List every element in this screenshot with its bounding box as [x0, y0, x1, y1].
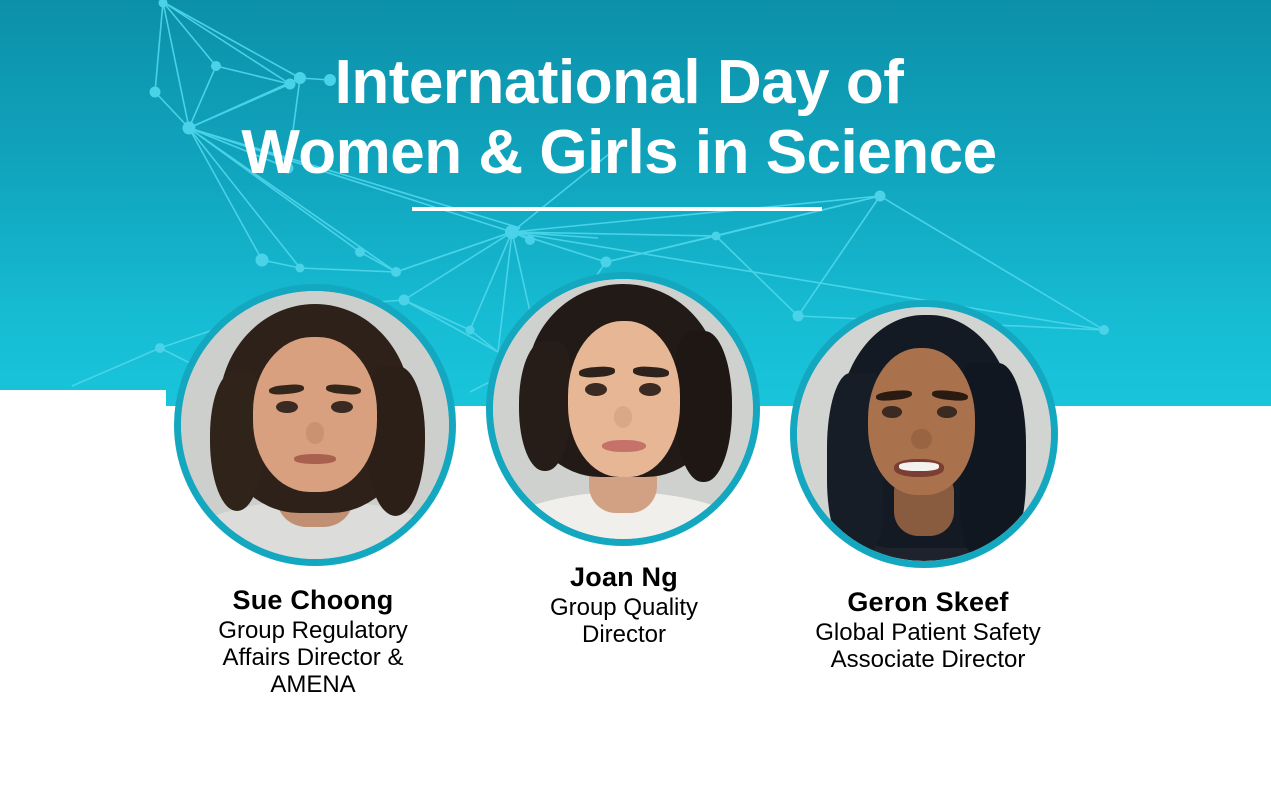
avatar-sue-choong: [174, 284, 456, 566]
person-name: Sue Choong: [165, 584, 461, 617]
person-role-line-3: AMENA: [165, 671, 461, 698]
caption-joan-ng: Joan Ng Group Quality Director: [490, 561, 758, 648]
portrait-image-joan-ng: [493, 279, 753, 539]
portrait-image-geron-skeef: [797, 307, 1051, 561]
page-title: International Day of Women & Girls in Sc…: [0, 48, 1238, 188]
title-line-2: Women & Girls in Science: [0, 118, 1238, 188]
person-role-line-2: Associate Director: [785, 646, 1071, 673]
person-role-line-2: Director: [490, 621, 758, 648]
caption-geron-skeef: Geron Skeef Global Patient Safety Associ…: [785, 586, 1071, 673]
person-role-line-1: Group Regulatory: [165, 617, 461, 644]
person-role-line-1: Group Quality: [490, 594, 758, 621]
portrait-image-sue-choong: [181, 291, 449, 559]
person-role-line-1: Global Patient Safety: [785, 619, 1071, 646]
caption-sue-choong: Sue Choong Group Regulatory Affairs Dire…: [165, 584, 461, 698]
title-divider-rule: [412, 207, 822, 211]
title-line-1: International Day of: [0, 48, 1238, 118]
person-name: Geron Skeef: [785, 586, 1071, 619]
person-role-line-2: Affairs Director &: [165, 644, 461, 671]
avatar-joan-ng: [486, 272, 760, 546]
slide-canvas: International Day of Women & Girls in Sc…: [0, 0, 1271, 788]
avatar-geron-skeef: [790, 300, 1058, 568]
person-name: Joan Ng: [490, 561, 758, 594]
